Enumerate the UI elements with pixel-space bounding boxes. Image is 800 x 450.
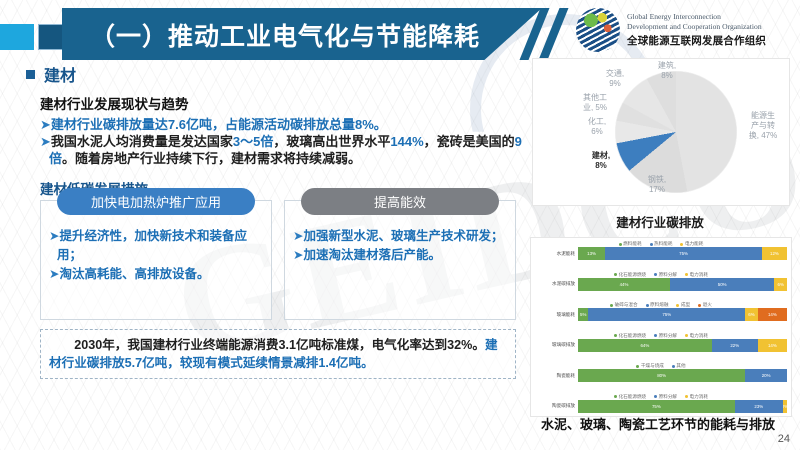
pie-caption: 建材行业碳排放 — [528, 212, 792, 231]
square-bullet-icon — [26, 70, 35, 79]
bar-segment: 6% — [774, 278, 787, 291]
legend-dot-icon — [650, 243, 653, 246]
bar-row-group: 化石能源燃烧原料分解电力消耗玻璃碳排放64%22%14% — [535, 333, 787, 352]
left-content-column: 建材 建材行业发展现状与趋势 ➤建材行业碳排放量达7.6亿吨，占能源活动碳排放总… — [26, 62, 526, 379]
pie-chart: 能源生 产与转 换, 47%钢铁, 17%建材, 8%化工, 6%其他工 业, … — [532, 58, 790, 206]
arrow-bullet-icon: ➤ — [293, 229, 303, 243]
bar-row: 陶瓷能耗80%20% — [535, 369, 787, 382]
section-heading: 建材 — [26, 62, 526, 86]
measure-line-text: 淘汰高耗能、高排放设备。 — [59, 267, 209, 281]
bar-segment: 23% — [735, 400, 783, 413]
legend-dot-icon — [672, 365, 675, 368]
legend-dot-icon — [698, 304, 701, 307]
bar-segment: 64% — [578, 339, 712, 352]
bullet-text: 建材行业碳排放量达7.6亿吨，占能源活动碳排放总量8%。 — [51, 117, 387, 132]
logo-english-line1: Global Energy Interconnection — [627, 12, 766, 22]
bar-track: 5%75%6%14% — [578, 308, 787, 321]
legend-dot-icon — [614, 334, 617, 337]
bullet-text: 我国水泥人均消费量是发达国家3～5倍，玻璃高出世界水平144%，瓷砖是美国的9倍… — [49, 134, 522, 166]
bar-row-label: 水泥能耗 — [535, 251, 575, 257]
bar-row: 玻璃能耗5%75%6%14% — [535, 308, 787, 321]
pie-slice-label: 化工, 6% — [581, 117, 613, 137]
bar-segment: 75% — [578, 400, 735, 413]
arrow-bullet-icon: ➤ — [40, 117, 51, 132]
bar-segment: 12% — [762, 247, 787, 260]
pie-slice-label: 能源生 产与转 换, 47% — [739, 111, 787, 141]
measure-line: ➤加强新型水泥、玻璃生产技术研发； — [293, 227, 507, 246]
legend-dot-icon — [685, 395, 688, 398]
bar-segment: 80% — [578, 369, 745, 382]
bar-row-group: 化石能源燃烧原料分解电力消耗水泥碳排放44%50%6% — [535, 272, 787, 291]
globe-icon — [576, 8, 620, 52]
bar-segment: 22% — [712, 339, 758, 352]
pie-slice-label: 建材, 8% — [583, 151, 619, 171]
bar-row: 玻璃碳排放64%22%14% — [535, 339, 787, 352]
pie-graphic — [615, 71, 737, 193]
bar-segment: 14% — [758, 308, 787, 321]
status-heading: 建材行业发展现状与趋势 — [40, 93, 526, 113]
bar-segment: 20% — [745, 369, 787, 382]
measure-pill: 加快电加热炉推广应用 — [57, 188, 255, 215]
logo-english-line2: Development and Cooperation Organization — [627, 22, 766, 32]
measure-pill: 提高能效 — [301, 188, 499, 215]
pie-slice-label: 钢铁, 17% — [639, 175, 675, 195]
page-number: 24 — [778, 433, 790, 445]
legend-dot-icon — [685, 273, 688, 276]
legend-dot-icon — [614, 395, 617, 398]
pie-slice-label: 交通, 9% — [599, 69, 631, 89]
bar-rows: 燃料能耗热料能耗电力能耗水泥能耗13%75%12%化石能源燃烧原料分解电力消耗水… — [535, 241, 787, 413]
bar-segment: 6% — [745, 308, 758, 321]
legend-dot-icon — [676, 304, 679, 307]
measure-box: 提高能效 ➤加强新型水泥、玻璃生产技术研发； ➤加速淘汰建材落后产能。 — [284, 200, 516, 320]
bar-segment: 14% — [758, 339, 787, 352]
bar-segment: 75% — [588, 308, 745, 321]
pie-slice-label: 其他工 业, 5% — [577, 93, 613, 113]
measure-line: ➤加速淘汰建材落后产能。 — [293, 246, 507, 265]
arrow-bullet-icon: ➤ — [293, 248, 303, 262]
bar-row-label: 陶瓷碳排放 — [535, 403, 575, 409]
bar-row-group: 破碎与混合原料熔融成型退火玻璃能耗5%75%6%14% — [535, 302, 787, 321]
bar-row: 水泥能耗13%75%12% — [535, 247, 787, 260]
bar-row-group: 干燥与烧成其他陶瓷能耗80%20% — [535, 363, 787, 382]
bar-track: 44%50%6% — [578, 278, 787, 291]
bar-segment: 75% — [605, 247, 762, 260]
page-title: （一）推动工业电气化与节能降耗 — [90, 17, 480, 53]
bar-row-group: 化石能源燃烧原料分解电力消耗陶瓷碳排放75%23%2% — [535, 394, 787, 413]
arrow-bullet-icon: ➤ — [49, 267, 59, 281]
legend-dot-icon — [654, 395, 657, 398]
bullet-item: ➤建材行业碳排放量达7.6亿吨，占能源活动碳排放总量8%。 — [40, 116, 526, 133]
bar-segment: 44% — [578, 278, 670, 291]
bar-track: 13%75%12% — [578, 247, 787, 260]
pie-slice-label: 建筑, 8% — [651, 61, 683, 81]
stacked-bar-chart: 燃料能耗热料能耗电力能耗水泥能耗13%75%12%化石能源燃烧原料分解电力消耗水… — [530, 237, 792, 417]
bar-caption: 水泥、玻璃、陶瓷工艺环节的能耗与排放 — [524, 414, 792, 433]
measure-boxes: 加快电加热炉推广应用 ➤提升经济性，加快新技术和装备应用； ➤淘汰高耗能、高排放… — [40, 200, 526, 320]
legend-dot-icon — [685, 334, 688, 337]
header-accent-cyan — [0, 24, 34, 50]
legend-dot-icon — [636, 365, 639, 368]
bar-track: 64%22%14% — [578, 339, 787, 352]
summary-note: 2030年，我国建材行业终端能源消费3.1亿吨标准煤，电气化率达到32%。建材行… — [40, 329, 516, 379]
legend-dot-icon — [654, 334, 657, 337]
measure-line: ➤淘汰高耗能、高排放设备。 — [49, 265, 263, 284]
bar-row-label: 水泥碳排放 — [535, 281, 575, 287]
measure-line-text: 加速淘汰建材落后产能。 — [303, 248, 441, 262]
legend-dot-icon — [619, 243, 622, 246]
bar-row: 陶瓷碳排放75%23%2% — [535, 400, 787, 413]
bar-track: 75%23%2% — [578, 400, 787, 413]
legend-dot-icon — [646, 304, 649, 307]
bar-segment: 13% — [578, 247, 605, 260]
bar-row: 水泥碳排放44%50%6% — [535, 278, 787, 291]
bar-segment: 50% — [670, 278, 775, 291]
measure-line-text: 提升经济性，加快新技术和装备应用； — [57, 229, 247, 262]
section-title: 建材 — [44, 62, 76, 86]
bar-track: 80%20% — [578, 369, 787, 382]
legend-dot-icon — [654, 273, 657, 276]
legend-dot-icon — [680, 243, 683, 246]
legend-dot-icon — [610, 304, 613, 307]
measure-line: ➤提升经济性，加快新技术和装备应用； — [49, 227, 263, 265]
arrow-bullet-icon: ➤ — [40, 134, 51, 149]
arrow-bullet-icon: ➤ — [49, 229, 59, 243]
measure-box: 加快电加热炉推广应用 ➤提升经济性，加快新技术和装备应用； ➤淘汰高耗能、高排放… — [40, 200, 272, 320]
bar-row-label: 陶瓷能耗 — [535, 373, 575, 379]
organization-logo: Global Energy Interconnection Developmen… — [576, 8, 766, 52]
bar-row-group: 燃料能耗热料能耗电力能耗水泥能耗13%75%12% — [535, 241, 787, 260]
logo-chinese-name: 全球能源互联网发展合作组织 — [627, 33, 766, 48]
bar-row-label: 玻璃碳排放 — [535, 342, 575, 348]
bar-segment: 5% — [578, 308, 588, 321]
legend-dot-icon — [614, 273, 617, 276]
bar-row-label: 玻璃能耗 — [535, 312, 575, 318]
measure-line-text: 加强新型水泥、玻璃生产技术研发； — [303, 229, 503, 243]
bar-segment: 2% — [783, 400, 787, 413]
bullet-item: ➤我国水泥人均消费量是发达国家3～5倍，玻璃高出世界水平144%，瓷砖是美国的9… — [40, 133, 526, 167]
right-chart-column: 能源生 产与转 换, 47%钢铁, 17%建材, 8%化工, 6%其他工 业, … — [528, 58, 792, 417]
note-plain: 2030年，我国建材行业终端能源消费3.1亿吨标准煤，电气化率达到32%。 — [49, 338, 485, 352]
